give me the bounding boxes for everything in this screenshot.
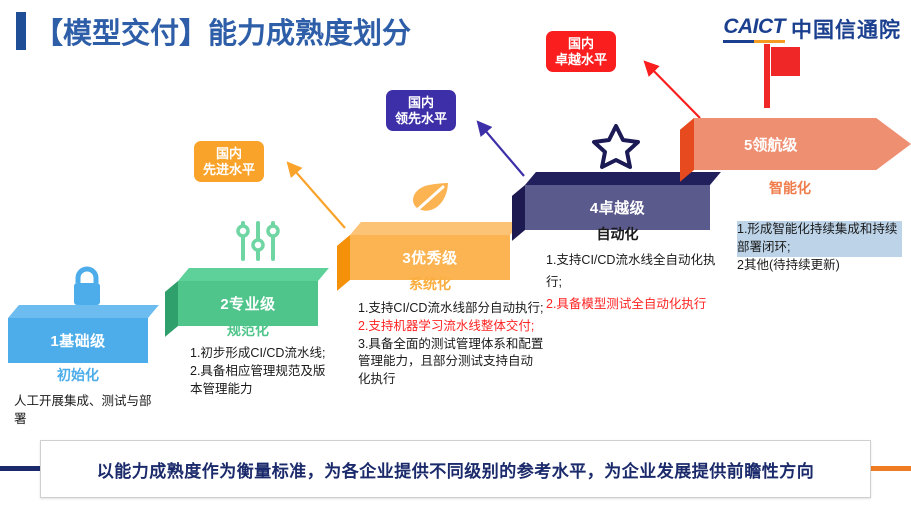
step-top-face <box>178 268 329 281</box>
callout-line-1: 国内 <box>395 95 447 111</box>
star-icon <box>590 122 642 175</box>
desc-part: 3.具备全面的测试管理体系和配置管理能力，且部分测试支持自动化执行 <box>358 336 544 389</box>
step-level-1-label: 1基础级 <box>50 330 105 351</box>
callout-advanced[interactable]: 国内 先进水平 <box>194 141 264 182</box>
desc-part: 1.支持CI/CD流水线部分自动执行; <box>358 300 544 318</box>
slide-canvas: 【模型交付】能力成熟度划分 CAICT 中国信通院 1基础级 <box>0 0 911 510</box>
caict-logo: CAICT 中国信通院 <box>723 14 901 44</box>
title-accent-bar <box>16 12 26 50</box>
desc-part-highlight: 1.形成智能化持续集成和持续部署闭环; <box>737 221 902 257</box>
step-level-4[interactable]: 4卓越级 <box>525 172 710 230</box>
step-level-2-label: 2专业级 <box>220 293 275 314</box>
step-side-face <box>165 281 178 337</box>
desc-part: 2其他(待持续更新) <box>737 257 902 275</box>
summary-banner-text: 以能力成熟度作为衡量标准，为各企业提供不同级别的参考水平，为企业发展提供前瞻性方… <box>97 457 815 482</box>
logo-mark-label: CAICT <box>723 15 785 38</box>
desc-part-highlight: 2.具备模型测试全自动化执行 <box>546 294 724 316</box>
lock-icon <box>68 265 106 312</box>
page-title: 【模型交付】能力成熟度划分 <box>34 10 411 52</box>
step-level-2[interactable]: 2专业级 <box>178 268 318 326</box>
step-level-1[interactable]: 1基础级 <box>8 305 148 363</box>
step-level-5[interactable]: 5领航级 <box>694 118 911 176</box>
callout-line-1: 国内 <box>555 36 607 52</box>
desc-part: 1.支持CI/CD流水线全自动化执行; <box>546 250 724 294</box>
logo-cn-label: 中国信通院 <box>791 14 901 44</box>
desc-line: 本管理能力 <box>190 381 350 399</box>
callout-line-2: 卓越水平 <box>555 52 607 68</box>
step-level-1-description: 人工开展集成、测试与部署 <box>14 393 154 429</box>
step-level-3-description: 1.支持CI/CD流水线部分自动执行; 2.支持机器学习流水线整体交付; 3.具… <box>358 300 544 389</box>
step-level-3[interactable]: 3优秀级 <box>350 222 510 280</box>
step-level-2-subtitle: 规范化 <box>178 320 318 340</box>
step-level-4-subtitle: 自动化 <box>525 224 710 244</box>
flag-icon <box>760 42 804 115</box>
callout-excellent[interactable]: 国内 卓越水平 <box>546 31 616 72</box>
leaf-icon <box>407 178 455 225</box>
step-front-face: 1基础级 <box>8 318 148 363</box>
step-level-4-description: 1.支持CI/CD流水线全自动化执行; 2.具备模型测试全自动化执行 <box>546 250 724 316</box>
callout-leading[interactable]: 国内 领先水平 <box>386 90 456 131</box>
desc-line: 1.初步形成CI/CD流水线; <box>190 345 350 363</box>
logo-mark-text: CAICT <box>723 15 785 43</box>
desc-part-highlight: 2.支持机器学习流水线整体交付; <box>358 318 544 336</box>
step-level-3-label: 3优秀级 <box>402 247 457 268</box>
step-level-4-label: 4卓越级 <box>590 197 645 218</box>
desc-line: 2.具备相应管理规范及版 <box>190 363 350 381</box>
step-front-face: 5领航级 <box>694 118 911 170</box>
step-level-5-label: 5领航级 <box>744 134 797 155</box>
callout-line-2: 先进水平 <box>203 162 255 178</box>
step-side-face <box>337 235 350 291</box>
step-level-1-subtitle: 初始化 <box>8 365 148 385</box>
step-side-face <box>512 185 525 241</box>
step-level-3-subtitle: 系统化 <box>350 274 510 294</box>
summary-banner: 以能力成熟度作为衡量标准，为各企业提供不同级别的参考水平，为企业发展提供前瞻性方… <box>40 440 871 498</box>
step-level-5-subtitle: 智能化 <box>700 178 880 198</box>
callout-line-1: 国内 <box>203 146 255 162</box>
step-level-5-description: 1.形成智能化持续集成和持续部署闭环; 2其他(待持续更新) <box>737 221 902 274</box>
sliders-icon <box>233 219 283 268</box>
step-level-2-description: 1.初步形成CI/CD流水线; 2.具备相应管理规范及版 本管理能力 <box>190 345 350 398</box>
callout-line-2: 领先水平 <box>395 111 447 127</box>
